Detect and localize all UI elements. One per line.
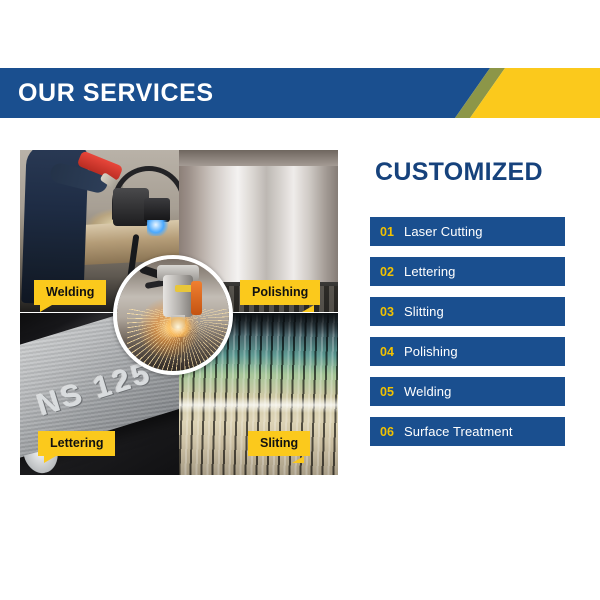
laser-head-orange-accent-shape bbox=[191, 281, 202, 315]
service-number: 02 bbox=[380, 265, 404, 279]
header-banner: OUR SERVICES bbox=[0, 68, 600, 118]
service-number: 03 bbox=[380, 305, 404, 319]
page-title: OUR SERVICES bbox=[18, 68, 214, 118]
caption-tag-lettering: Lettering bbox=[38, 431, 115, 456]
caption-tag-polishing: Polishing bbox=[240, 280, 320, 305]
image-collage: NS 125 Welding Polishing Lettering Sliti… bbox=[20, 150, 338, 475]
service-list-item-04[interactable]: 04 Polishing bbox=[370, 337, 565, 366]
service-number: 05 bbox=[380, 385, 404, 399]
service-label: Surface Treatment bbox=[404, 424, 513, 439]
service-list-item-01[interactable]: 01 Laser Cutting bbox=[370, 217, 565, 246]
welding-machine-head-shape bbox=[144, 198, 170, 222]
panel-title: CUSTOMIZED bbox=[375, 158, 565, 187]
polishing-coil-top-shape bbox=[179, 150, 338, 166]
laser-flash-shape bbox=[161, 317, 195, 337]
service-label: Lettering bbox=[404, 264, 456, 279]
service-label: Polishing bbox=[404, 344, 458, 359]
service-number: 01 bbox=[380, 225, 404, 239]
service-number: 04 bbox=[380, 345, 404, 359]
service-list-item-02[interactable]: 02 Lettering bbox=[370, 257, 565, 286]
service-list-item-03[interactable]: 03 Slitting bbox=[370, 297, 565, 326]
service-label: Slitting bbox=[404, 304, 444, 319]
services-panel: CUSTOMIZED 01 Laser Cutting 02 Lettering… bbox=[370, 150, 565, 457]
laser-head-body-shape bbox=[163, 275, 193, 317]
caption-tag-slitting: Sliting bbox=[248, 431, 310, 456]
service-list: 01 Laser Cutting 02 Lettering 03 Slittin… bbox=[370, 217, 565, 446]
service-list-item-05[interactable]: 05 Welding bbox=[370, 377, 565, 406]
service-label: Welding bbox=[404, 384, 451, 399]
caption-tag-welding: Welding bbox=[34, 280, 106, 305]
service-number: 06 bbox=[380, 425, 404, 439]
welding-arc-spark-shape bbox=[147, 220, 169, 236]
service-list-item-06[interactable]: 06 Surface Treatment bbox=[370, 417, 565, 446]
service-label: Laser Cutting bbox=[404, 224, 483, 239]
photo-laser-cutting-inset bbox=[113, 255, 233, 375]
slitting-sheen-shape bbox=[179, 397, 338, 413]
